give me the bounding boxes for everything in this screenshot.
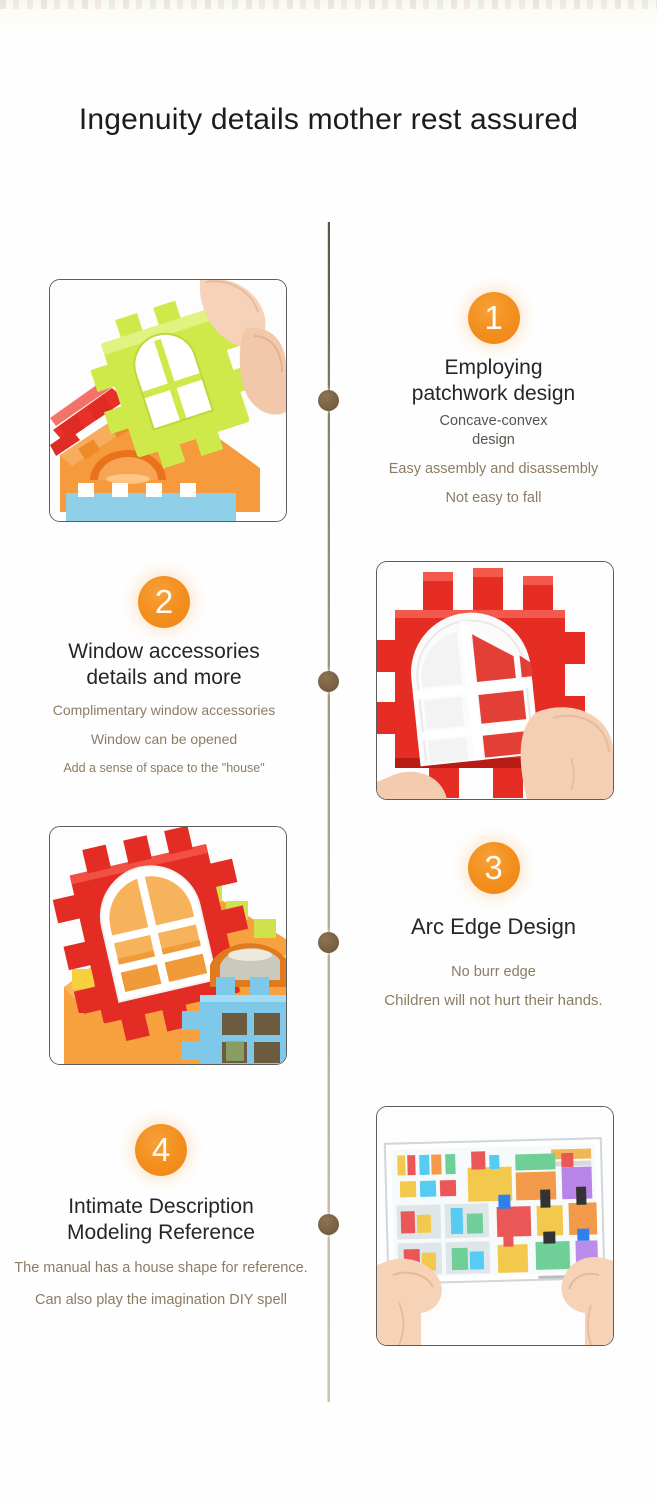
feature-heading-2: Window accessories details and more xyxy=(14,639,314,691)
feature-heading-1-line2: patchwork design xyxy=(346,381,641,407)
feature-sub-1-line1: Concave-convex xyxy=(346,412,641,431)
feature-heading-1-line1: Employing xyxy=(346,355,641,381)
feature-heading-3: Arc Edge Design xyxy=(346,914,641,940)
feature-heading-1: Employing patchwork design xyxy=(346,355,641,407)
feature-block-2: 2 Window accessories details and more Co… xyxy=(14,576,314,778)
feature-note-4a: The manual has a house shape for referen… xyxy=(0,1258,326,1278)
feature-note-1b: Not easy to fall xyxy=(346,488,641,508)
feature-block-1: 1 Employing patchwork design Concave-con… xyxy=(346,292,641,508)
timeline-dot-1 xyxy=(318,390,339,411)
feature-note-3b: Children will not hurt their hands. xyxy=(346,991,641,1011)
feature-sub-1-line2: design xyxy=(346,431,641,450)
timeline-dot-2 xyxy=(318,671,339,692)
feature-badge-4: 4 xyxy=(135,1124,187,1176)
feature-block-4: 4 Intimate Description Modeling Referenc… xyxy=(0,1124,326,1310)
feature-note-1a: Easy assembly and disassembly xyxy=(346,459,641,479)
feature-badge-2: 2 xyxy=(138,576,190,628)
feature-photo-4-image xyxy=(377,1107,613,1345)
feature-photo-3-image xyxy=(50,827,286,1064)
top-image-remnant-strip xyxy=(0,0,657,9)
feature-heading-2-line1: Window accessories xyxy=(14,639,314,665)
feature-heading-4-line1: Intimate Description xyxy=(0,1194,326,1220)
feature-badge-3: 3 xyxy=(468,842,520,894)
feature-heading-4: Intimate Description Modeling Reference xyxy=(0,1194,326,1246)
feature-note-2c: Add a sense of space to the "house" xyxy=(14,758,314,778)
feature-sub-1: Concave-convex design xyxy=(346,412,641,450)
feature-photo-1[interactable] xyxy=(49,279,287,522)
feature-heading-3-line1: Arc Edge Design xyxy=(346,914,641,940)
feature-heading-2-line2: details and more xyxy=(14,665,314,691)
feature-photo-4[interactable] xyxy=(376,1106,614,1346)
feature-badge-1: 1 xyxy=(468,292,520,344)
feature-photo-3[interactable] xyxy=(49,826,287,1065)
top-white-band xyxy=(0,9,657,39)
feature-note-2b: Window can be opened xyxy=(14,729,314,749)
feature-photo-2-image xyxy=(377,562,613,799)
feature-block-3: 3 Arc Edge Design No burr edge Children … xyxy=(346,842,641,1011)
feature-note-3a: No burr edge xyxy=(346,962,641,982)
timeline-dot-3 xyxy=(318,932,339,953)
feature-photo-1-image xyxy=(50,280,286,521)
page-title: Ingenuity details mother rest assured xyxy=(0,103,657,137)
feature-note-2a: Complimentary window accessories xyxy=(14,700,314,720)
feature-note-4b: Can also play the imagination DIY spell xyxy=(0,1290,326,1310)
feature-photo-2[interactable] xyxy=(376,561,614,800)
feature-heading-4-line2: Modeling Reference xyxy=(0,1220,326,1246)
